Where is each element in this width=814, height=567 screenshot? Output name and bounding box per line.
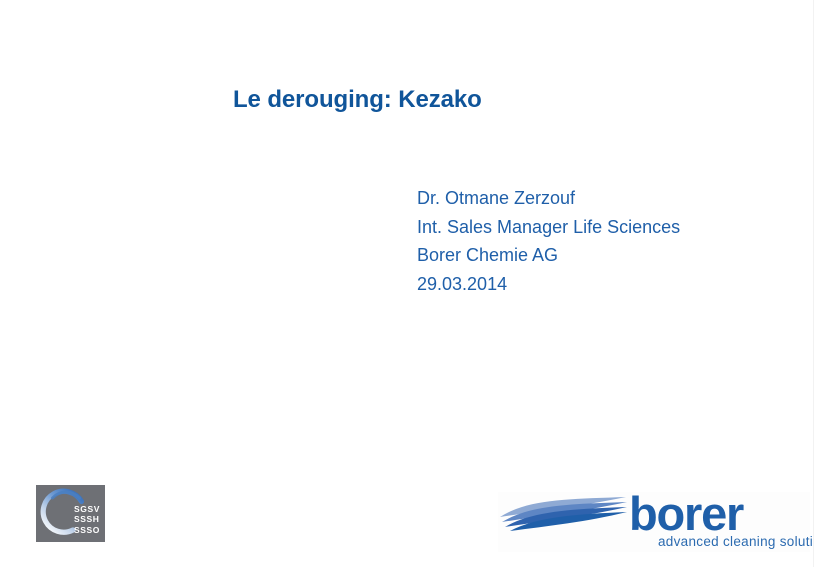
- presentation-slide: Le derouging: Kezako Dr. Otmane Zerzouf …: [0, 0, 814, 567]
- presenter-name: Dr. Otmane Zerzouf: [417, 184, 680, 213]
- presentation-date: 29.03.2014: [417, 270, 680, 299]
- sgsv-logo-line-3: SSSO: [74, 525, 100, 536]
- sgsv-logo-text: SGSV SSSH SSSO: [74, 504, 100, 536]
- presenter-info-block: Dr. Otmane Zerzouf Int. Sales Manager Li…: [417, 184, 680, 298]
- presenter-company: Borer Chemie AG: [417, 241, 680, 270]
- presenter-role: Int. Sales Manager Life Sciences: [417, 213, 680, 242]
- borer-wordmark: borer: [629, 488, 743, 540]
- borer-tagline: advanced cleaning solutions: [658, 534, 814, 549]
- sgsv-logo: SGSV SSSH SSSO: [36, 485, 105, 542]
- borer-wave-icon: [498, 495, 628, 533]
- sgsv-logo-line-2: SSSH: [74, 514, 100, 525]
- slide-title: Le derouging: Kezako: [233, 86, 482, 114]
- sgsv-logo-line-1: SGSV: [74, 504, 100, 515]
- borer-logo: borer advanced cleaning solutions: [498, 492, 810, 552]
